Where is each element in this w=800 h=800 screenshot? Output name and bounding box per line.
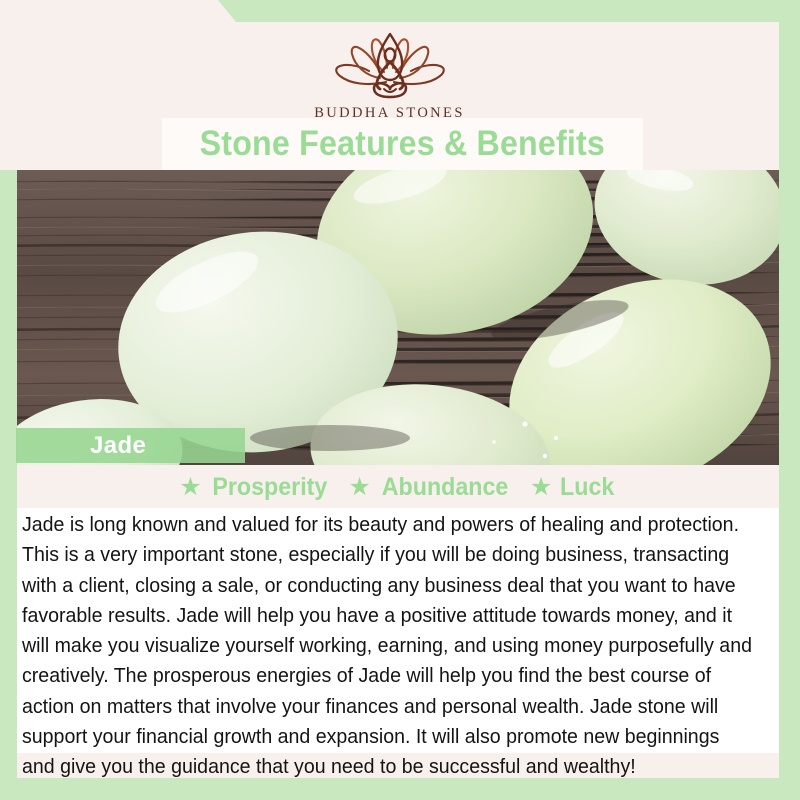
stone-name-badge: Jade: [16, 428, 245, 463]
benefit-item: ★ Prosperity: [179, 473, 331, 502]
brand-logo: BUDDHA STONES: [0, 28, 779, 122]
title-strip: Stone Features & Benefits: [162, 118, 643, 170]
star-icon: ★: [348, 475, 370, 500]
lotus-meditation-icon: [324, 28, 456, 102]
star-icon: ★: [179, 475, 201, 500]
benefit-label: Abundance: [382, 473, 509, 502]
page-title: Stone Features & Benefits: [200, 124, 605, 164]
stone-name-label: Jade: [90, 432, 146, 460]
star-icon: ★: [530, 475, 552, 500]
benefit-label: Prosperity: [212, 473, 327, 502]
left-accent-strip: [0, 170, 17, 785]
benefit-item: ★ Luck: [530, 473, 617, 502]
right-accent-strip: [779, 0, 800, 592]
benefit-item: ★ Abundance: [348, 473, 513, 502]
stone-info-poster: BUDDHA STONES Stone Features & Benefits: [0, 0, 800, 800]
description-paragraph: Jade is long known and valued for its be…: [22, 510, 753, 783]
content-panel: ★ Prosperity ★ Abundance ★ Luck Jade is …: [17, 465, 779, 778]
benefits-row: ★ Prosperity ★ Abundance ★ Luck: [17, 473, 779, 502]
jade-stones-photo: [0, 170, 786, 465]
photo-illustration: [0, 170, 786, 465]
benefit-label: Luck: [560, 473, 614, 502]
